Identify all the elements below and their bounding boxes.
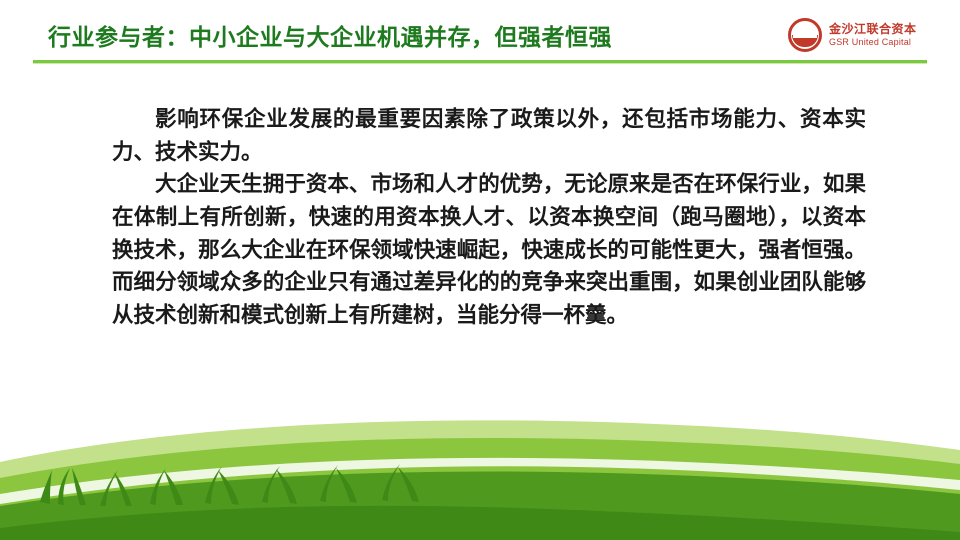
logo-name-en: GSR United Capital xyxy=(829,37,917,47)
body-paragraph-1: 影响环保企业发展的最重要因素除了政策以外，还包括市场能力、资本实力、技术实力。 xyxy=(112,104,866,169)
bottom-decoration xyxy=(0,410,960,540)
slide-body: 影响环保企业发展的最重要因素除了政策以外，还包括市场能力、资本实力、技术实力。 … xyxy=(112,104,866,333)
page-title: 行业参与者：中小企业与大企业机遇并存，但强者恒强 xyxy=(48,18,612,52)
logo-text: 金沙江联合资本 GSR United Capital xyxy=(829,23,917,47)
grass-band-graphic xyxy=(0,410,960,540)
slide-header: 行业参与者：中小企业与大企业机遇并存，但强者恒强 金沙江联合资本 GSR Uni… xyxy=(0,0,960,68)
company-logo: 金沙江联合资本 GSR United Capital xyxy=(788,14,938,56)
body-paragraph-2: 大企业天生拥于资本、市场和人才的优势，无论原来是否在环保行业，如果在体制上有所创… xyxy=(112,169,866,332)
slide: 行业参与者：中小企业与大企业机遇并存，但强者恒强 金沙江联合资本 GSR Uni… xyxy=(0,0,960,540)
logo-name-cn: 金沙江联合资本 xyxy=(829,23,917,37)
title-underline-secondary xyxy=(33,63,927,64)
logo-circle-wave-icon xyxy=(788,18,822,52)
